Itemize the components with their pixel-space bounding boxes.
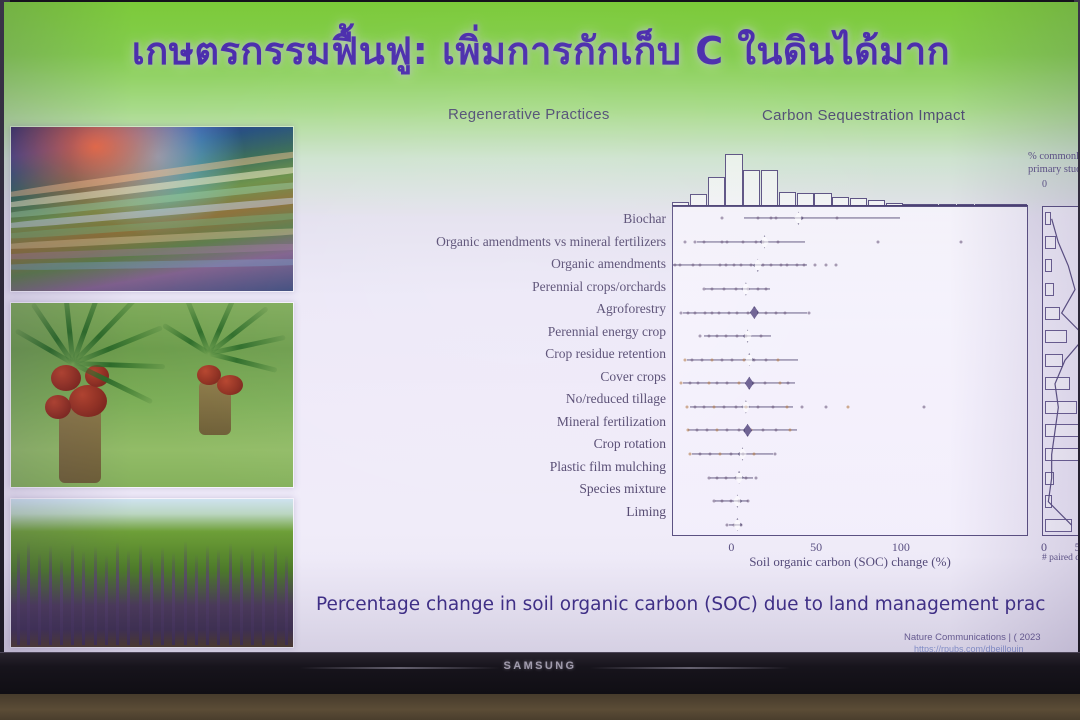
data-point — [756, 287, 759, 290]
point-estimate-marker — [741, 400, 750, 413]
histogram-bar — [814, 193, 831, 206]
data-point — [692, 264, 695, 267]
data-point — [687, 429, 690, 432]
data-point — [719, 264, 722, 267]
data-point — [716, 382, 719, 385]
data-point — [800, 405, 803, 408]
dotplot-row — [673, 419, 1027, 442]
data-point — [736, 311, 739, 314]
data-point — [778, 382, 781, 385]
data-point — [877, 240, 880, 243]
data-point — [702, 240, 705, 243]
data-point — [755, 240, 758, 243]
dotplot-row — [673, 231, 1027, 254]
data-point — [772, 405, 775, 408]
histogram-bar — [725, 154, 742, 206]
histogram-bar — [761, 170, 778, 207]
data-point — [731, 358, 734, 361]
data-point — [680, 311, 683, 314]
data-point — [773, 452, 776, 455]
data-point — [707, 476, 710, 479]
slide-caption: Percentage change in soil organic carbon… — [316, 594, 1078, 615]
photo-sugarcane — [10, 498, 294, 648]
data-point — [709, 452, 712, 455]
point-estimate-marker — [745, 353, 754, 366]
data-point — [738, 429, 741, 432]
room-scene: เกษตรกรรมฟื้นฟู: เพิ่มการกักเก็บ C ในดิน… — [0, 0, 1080, 720]
data-point — [777, 358, 780, 361]
right-panel-bars — [1042, 206, 1078, 536]
point-estimate-marker — [760, 235, 769, 248]
point-estimate-marker — [794, 212, 803, 225]
data-point — [721, 240, 724, 243]
source-credit: Nature Communications | ( 2023 — [904, 632, 1041, 643]
point-estimate-marker — [743, 424, 752, 437]
slide-title: เกษตรกรรมฟื้นฟู: เพิ่มการกักเก็บ C ในดิน… — [4, 20, 1078, 81]
point-estimate-marker — [733, 495, 742, 508]
row-whisker — [744, 218, 900, 219]
data-point — [726, 523, 729, 526]
data-point — [705, 429, 708, 432]
right-panel-heading: % commonly shared primary studies (line)… — [1028, 150, 1078, 190]
data-point — [722, 405, 725, 408]
data-point — [749, 264, 752, 267]
point-estimate-marker — [738, 447, 747, 460]
practice-label: Agroforestry — [344, 298, 666, 321]
practice-label: Crop residue retention — [344, 343, 666, 366]
data-point — [678, 264, 681, 267]
data-point — [683, 358, 686, 361]
data-point — [741, 240, 744, 243]
practice-label: Organic amendments — [344, 253, 666, 276]
data-point — [702, 405, 705, 408]
right-top-tick-label: 0 — [1042, 178, 1047, 191]
data-point — [770, 264, 773, 267]
data-point — [788, 429, 791, 432]
data-point — [785, 264, 788, 267]
data-point — [765, 358, 768, 361]
practice-label: Mineral fertilization — [344, 411, 666, 434]
data-point — [846, 405, 849, 408]
data-point — [824, 405, 827, 408]
data-point — [761, 429, 764, 432]
data-point — [699, 264, 702, 267]
data-point — [722, 287, 725, 290]
soc-dotplot-panel: Cropland — [672, 206, 1028, 536]
data-point — [697, 382, 700, 385]
dotplot-row — [673, 278, 1027, 301]
data-point — [814, 264, 817, 267]
data-point — [960, 240, 963, 243]
data-point — [726, 382, 729, 385]
data-point — [673, 264, 676, 267]
data-point — [690, 358, 693, 361]
x-tick-label: 50 — [810, 540, 822, 555]
dotplot-row — [673, 254, 1027, 277]
data-point — [787, 382, 790, 385]
dotplot-row — [673, 466, 1027, 489]
data-point — [710, 311, 713, 314]
point-estimate-marker — [753, 259, 762, 272]
practice-label-column: BiocharOrganic amendments vs mineral fer… — [344, 208, 666, 523]
bezel-line-right — [590, 667, 790, 669]
data-point — [734, 405, 737, 408]
data-point — [716, 476, 719, 479]
data-point — [756, 405, 759, 408]
point-estimate-marker — [745, 377, 754, 390]
data-point — [744, 476, 747, 479]
data-point — [721, 217, 724, 220]
tv-bezel — [0, 652, 1080, 694]
dotplot-row — [673, 396, 1027, 419]
point-estimate-marker — [743, 330, 752, 343]
photo-rice-terraces — [10, 126, 294, 292]
data-point — [724, 264, 727, 267]
projected-slide: เกษตรกรรมฟื้นฟู: เพิ่มการกักเก็บ C ในดิน… — [4, 2, 1078, 654]
data-point — [770, 217, 773, 220]
data-point — [729, 500, 732, 503]
data-point — [710, 358, 713, 361]
data-point — [775, 217, 778, 220]
right-panel-xlabel: # paired data points (bars) — [1042, 552, 1078, 564]
data-point — [688, 452, 691, 455]
data-point — [802, 264, 805, 267]
point-estimate-marker — [741, 282, 750, 295]
data-point — [685, 405, 688, 408]
bezel-line-left — [300, 667, 500, 669]
dotplot-row — [673, 513, 1027, 536]
data-point — [783, 311, 786, 314]
practice-label: Plastic film mulching — [344, 456, 666, 479]
data-point — [694, 240, 697, 243]
data-point — [734, 287, 737, 290]
histogram-bar — [743, 170, 760, 207]
dotplot-row — [673, 372, 1027, 395]
practice-label: Crop rotation — [344, 433, 666, 456]
x-tick-label: 0 — [728, 540, 734, 555]
data-point — [680, 382, 683, 385]
sugarcane-image — [11, 499, 293, 647]
row-whisker — [692, 453, 773, 454]
dotplot-row — [673, 348, 1027, 371]
data-point — [726, 240, 729, 243]
data-point — [721, 358, 724, 361]
data-point — [739, 264, 742, 267]
dotplot-row — [673, 301, 1027, 324]
dotplot-row — [673, 443, 1027, 466]
data-point — [716, 429, 719, 432]
data-point — [753, 452, 756, 455]
practice-label: No/reduced tillage — [344, 388, 666, 411]
data-point — [765, 311, 768, 314]
data-point — [707, 335, 710, 338]
data-point — [777, 240, 780, 243]
heading-regenerative-practices: Regenerative Practices — [448, 106, 610, 123]
data-point — [707, 382, 710, 385]
point-estimate-marker — [750, 306, 759, 319]
data-point — [755, 476, 758, 479]
dotplot-row — [673, 325, 1027, 348]
photo-oil-palm — [10, 302, 294, 488]
data-point — [729, 452, 732, 455]
data-point — [717, 311, 720, 314]
x-axis-label: Soil organic carbon (SOC) change (%) — [672, 554, 1028, 570]
data-point — [746, 500, 749, 503]
dotplot-row — [673, 207, 1027, 230]
soc-change-figure: BiocharOrganic amendments vs mineral fer… — [304, 130, 1078, 582]
data-point — [702, 287, 705, 290]
data-point — [688, 382, 691, 385]
data-point — [733, 264, 736, 267]
practice-label: Liming — [344, 501, 666, 524]
row-whisker — [683, 312, 807, 313]
data-point — [687, 311, 690, 314]
data-point — [736, 335, 739, 338]
data-point — [710, 287, 713, 290]
data-point — [694, 405, 697, 408]
heading-carbon-sequestration-impact: Carbon Sequestration Impact — [762, 106, 972, 126]
data-point — [704, 311, 707, 314]
data-point — [785, 405, 788, 408]
data-point — [765, 287, 768, 290]
data-point — [756, 217, 759, 220]
data-point — [716, 335, 719, 338]
data-point — [824, 264, 827, 267]
data-point — [712, 405, 715, 408]
right-panel-line — [1043, 207, 1078, 536]
data-point — [700, 358, 703, 361]
data-point — [834, 264, 837, 267]
practice-label: Biochar — [344, 208, 666, 231]
data-point — [726, 429, 729, 432]
x-tick-label: 100 — [892, 540, 910, 555]
room-floor — [0, 694, 1080, 720]
data-point — [760, 335, 763, 338]
data-point — [836, 217, 839, 220]
rice-terraces-image — [11, 127, 293, 291]
tv-brand-logo: SAMSUNG — [503, 660, 576, 672]
data-point — [775, 311, 778, 314]
point-estimate-marker — [735, 471, 744, 484]
data-point — [780, 264, 783, 267]
data-point — [719, 452, 722, 455]
row-whisker — [705, 288, 769, 289]
row-whisker — [697, 241, 805, 242]
data-point — [795, 264, 798, 267]
data-point — [724, 476, 727, 479]
data-point — [807, 311, 810, 314]
data-point — [712, 500, 715, 503]
oil-palm-image — [11, 303, 293, 487]
data-point — [738, 382, 741, 385]
practice-label: Species mixture — [344, 478, 666, 501]
data-point — [727, 311, 730, 314]
histogram-bar — [708, 177, 725, 206]
histogram-bar — [779, 192, 796, 206]
histogram-bar — [797, 193, 814, 206]
data-point — [699, 452, 702, 455]
practice-label: Perennial energy crop — [344, 321, 666, 344]
data-point — [724, 335, 727, 338]
practice-label: Organic amendments vs mineral fertilizer… — [344, 231, 666, 254]
practice-label: Perennial crops/orchards — [344, 276, 666, 299]
data-point — [721, 500, 724, 503]
data-point — [699, 335, 702, 338]
data-point — [746, 311, 749, 314]
data-point — [763, 382, 766, 385]
practice-label: Cover crops — [344, 366, 666, 389]
data-point — [922, 405, 925, 408]
dotplot-row — [673, 490, 1027, 513]
data-point — [694, 311, 697, 314]
data-point — [695, 429, 698, 432]
point-estimate-marker — [733, 518, 742, 531]
data-point — [683, 240, 686, 243]
data-point — [775, 429, 778, 432]
top-histogram — [672, 150, 1028, 206]
